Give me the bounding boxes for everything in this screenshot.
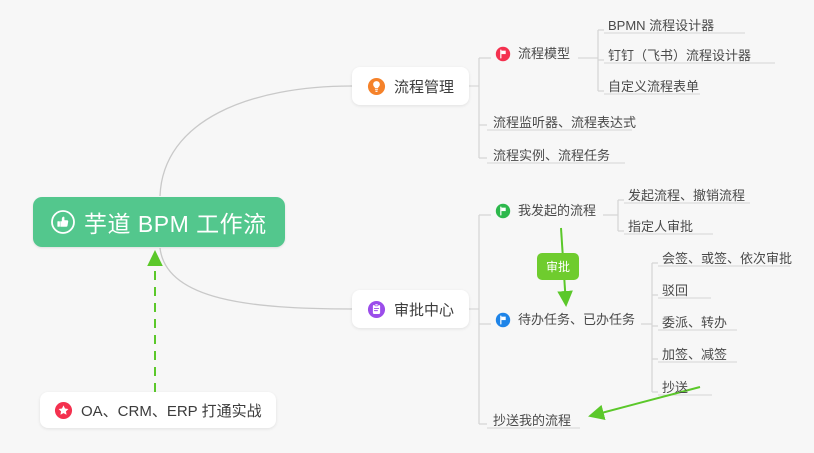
- node-todo-done-tasks[interactable]: 待办任务、已办任务: [491, 310, 639, 332]
- flag-icon: [495, 46, 511, 62]
- leaf-label: 委派、转办: [662, 315, 727, 331]
- branch-node-approval-center[interactable]: 审批中心: [352, 290, 469, 328]
- leaf-label: 抄送: [662, 380, 688, 396]
- node-label: 抄送我的流程: [493, 413, 571, 429]
- mindmap-canvas: 芋道 BPM 工作流 OA、CRM、ERP 打通实战 流程管理: [0, 0, 814, 453]
- free-node-oa-crm-erp[interactable]: OA、CRM、ERP 打通实战: [40, 392, 276, 428]
- tag-node-approval[interactable]: 审批: [537, 253, 579, 280]
- node-process-listener-expression[interactable]: 流程监听器、流程表达式: [489, 113, 640, 135]
- flag-icon: [495, 312, 511, 328]
- leaf-countersign-orsign-sequential[interactable]: 会签、或签、依次审批: [658, 249, 796, 271]
- node-my-initiated-processes[interactable]: 我发起的流程: [491, 201, 600, 223]
- leaf-label: 自定义流程表单: [608, 79, 699, 95]
- leaf-label: 发起流程、撤销流程: [628, 188, 745, 204]
- leaf-dingtalk-feishu-designer[interactable]: 钉钉（飞书）流程设计器: [604, 46, 755, 68]
- leaf-label: 钉钉（飞书）流程设计器: [608, 48, 751, 64]
- node-cc-to-me-processes[interactable]: 抄送我的流程: [489, 411, 575, 433]
- branch-label-approval-center: 审批中心: [394, 299, 454, 320]
- star-icon: [54, 401, 73, 420]
- leaf-label: 指定人审批: [628, 219, 693, 235]
- leaf-label: 会签、或签、依次审批: [662, 251, 792, 267]
- flag-icon: [495, 203, 511, 219]
- leaf-delegate-transfer[interactable]: 委派、转办: [658, 313, 731, 335]
- node-process-model[interactable]: 流程模型: [491, 44, 574, 66]
- node-label-todo-done-tasks: 待办任务、已办任务: [518, 312, 635, 328]
- free-node-label: OA、CRM、ERP 打通实战: [81, 400, 262, 421]
- leaf-custom-process-form[interactable]: 自定义流程表单: [604, 77, 703, 99]
- root-label: 芋道 BPM 工作流: [84, 205, 267, 239]
- thumbs-up-icon: [51, 210, 75, 234]
- tag-label: 审批: [546, 258, 570, 275]
- leaf-label: 加签、减签: [662, 347, 727, 363]
- branch-node-process-management[interactable]: 流程管理: [352, 67, 469, 105]
- leaf-add-remove-sign[interactable]: 加签、减签: [658, 345, 731, 367]
- clipboard-icon: [367, 300, 386, 319]
- root-node[interactable]: 芋道 BPM 工作流: [33, 197, 285, 247]
- node-label: 流程实例、流程任务: [493, 148, 610, 164]
- leaf-reject[interactable]: 驳回: [658, 281, 692, 303]
- lightbulb-icon: [367, 77, 386, 96]
- leaf-bpmn-designer[interactable]: BPMN 流程设计器: [604, 16, 718, 38]
- leaf-label: 驳回: [662, 283, 688, 299]
- branch-label-process-management: 流程管理: [394, 76, 454, 97]
- node-label: 流程监听器、流程表达式: [493, 115, 636, 131]
- node-label-my-initiated-processes: 我发起的流程: [518, 203, 596, 219]
- node-process-instance-task[interactable]: 流程实例、流程任务: [489, 146, 614, 168]
- leaf-start-cancel-process[interactable]: 发起流程、撤销流程: [624, 186, 749, 208]
- leaf-assigned-approver[interactable]: 指定人审批: [624, 217, 697, 239]
- leaf-label: BPMN 流程设计器: [608, 18, 714, 34]
- node-label-process-model: 流程模型: [518, 46, 570, 62]
- leaf-cc[interactable]: 抄送: [658, 378, 692, 400]
